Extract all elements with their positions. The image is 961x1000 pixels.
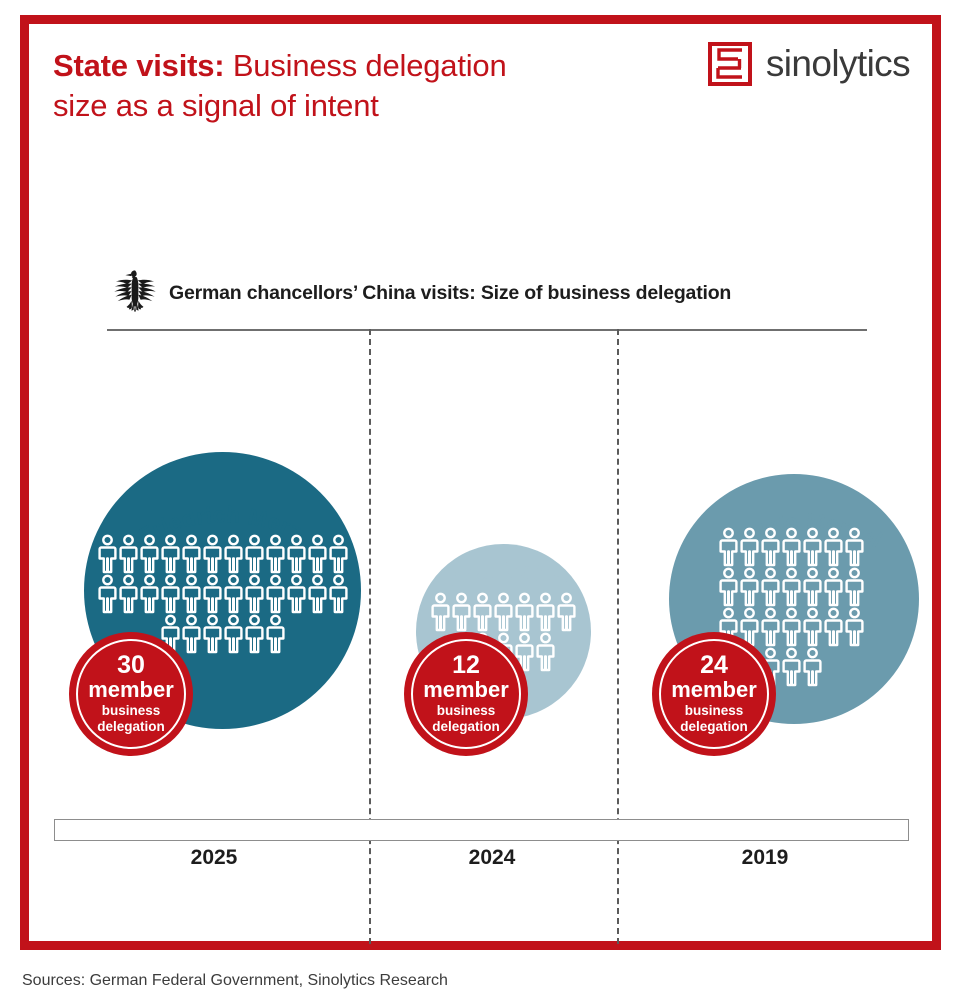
year-label-2025: 2025 (144, 846, 284, 870)
person-icon (823, 607, 844, 647)
person-icon (223, 574, 244, 614)
person-icon (139, 534, 160, 574)
badge-member-label: member (423, 678, 509, 701)
page-title-rest: Business delegation (224, 48, 506, 83)
person-icon (160, 534, 181, 574)
sinolytics-wordmark: sinolytics (766, 43, 910, 85)
person-icon (718, 527, 739, 567)
person-icon (118, 574, 139, 614)
person-icon (514, 592, 535, 632)
person-icon (802, 647, 823, 687)
person-icon (802, 567, 823, 607)
person-icon (472, 592, 493, 632)
person-icon (265, 574, 286, 614)
header-rule (107, 329, 867, 331)
delegation-badge-merkel[interactable]: 24 member business delegation (652, 632, 776, 756)
person-icon (844, 567, 865, 607)
person-icon (244, 534, 265, 574)
person-icon (265, 614, 286, 654)
person-icon (286, 534, 307, 574)
badge-sub-label: business delegation (97, 703, 165, 735)
person-icon (781, 567, 802, 607)
person-icon (781, 527, 802, 567)
person-icon (760, 607, 781, 647)
person-icon (739, 567, 760, 607)
person-icon (823, 567, 844, 607)
person-icon (244, 614, 265, 654)
page-title-line2: size as a signal of intent (53, 88, 379, 123)
badge-count: 24 (700, 653, 728, 679)
badge-sub-label: business delegation (680, 703, 748, 735)
person-icon (844, 527, 865, 567)
chart-header: German chancellors’ China visits: Size o… (107, 274, 867, 324)
year-label-2024: 2024 (422, 846, 562, 870)
person-icon (823, 527, 844, 567)
person-icon (202, 614, 223, 654)
chart-title: German chancellors’ China visits: Size o… (169, 282, 731, 305)
divider-2024-2019 (617, 329, 619, 944)
person-icon (802, 527, 823, 567)
year-label-2019: 2019 (695, 846, 835, 870)
person-icon (265, 534, 286, 574)
page-title-bold: State visits: (53, 48, 224, 83)
person-icon (181, 534, 202, 574)
person-icon (286, 574, 307, 614)
badge-member-label: member (88, 678, 174, 701)
person-icon (760, 567, 781, 607)
timeline-baseline (54, 819, 909, 841)
person-icon (430, 592, 451, 632)
person-icon (718, 567, 739, 607)
person-icon (844, 607, 865, 647)
delegation-badge-merz[interactable]: 30 member business delegation (69, 632, 193, 756)
badge-sub-label: business delegation (432, 703, 500, 735)
person-icon (493, 592, 514, 632)
person-icon (307, 574, 328, 614)
person-icon (328, 574, 349, 614)
visit-group-scholz[interactable]: Olaf Scholz 12 member (384, 404, 614, 824)
sinolytics-logo-mark (708, 42, 752, 86)
sinolytics-logo[interactable]: sinolytics (708, 42, 910, 86)
person-icon (202, 534, 223, 574)
person-icon (160, 574, 181, 614)
visit-group-merz[interactable]: Friedrich Merz (54, 404, 374, 824)
person-icon (307, 534, 328, 574)
person-icon (181, 614, 202, 654)
person-icon (781, 607, 802, 647)
badge-count: 30 (117, 653, 145, 679)
person-icon (535, 592, 556, 632)
person-icon (328, 534, 349, 574)
person-icon (451, 592, 472, 632)
person-icon (802, 607, 823, 647)
person-icon (97, 534, 118, 574)
delegation-badge-scholz[interactable]: 12 member business delegation (404, 632, 528, 756)
person-icon (781, 647, 802, 687)
person-icon (535, 632, 556, 672)
source-note: Sources: German Federal Government, Sino… (22, 972, 448, 990)
poster-frame: State visits: Business delegation size a… (20, 15, 941, 950)
person-icon (202, 574, 223, 614)
person-icon (118, 534, 139, 574)
person-icon (739, 527, 760, 567)
person-icon (244, 574, 265, 614)
person-icon (760, 527, 781, 567)
person-icon (556, 592, 577, 632)
person-icon (223, 614, 244, 654)
person-icon (223, 534, 244, 574)
chart-canvas: German chancellors’ China visits: Size o… (29, 144, 932, 941)
person-icon (181, 574, 202, 614)
german-federal-eagle-icon (107, 268, 163, 322)
person-icon (97, 574, 118, 614)
badge-member-label: member (671, 678, 757, 701)
visit-group-merkel[interactable]: Angela Merkel (634, 404, 914, 824)
page-title: State visits: Business delegation size a… (53, 46, 507, 127)
header: State visits: Business delegation size a… (29, 24, 932, 144)
badge-count: 12 (452, 653, 480, 679)
person-icon (139, 574, 160, 614)
